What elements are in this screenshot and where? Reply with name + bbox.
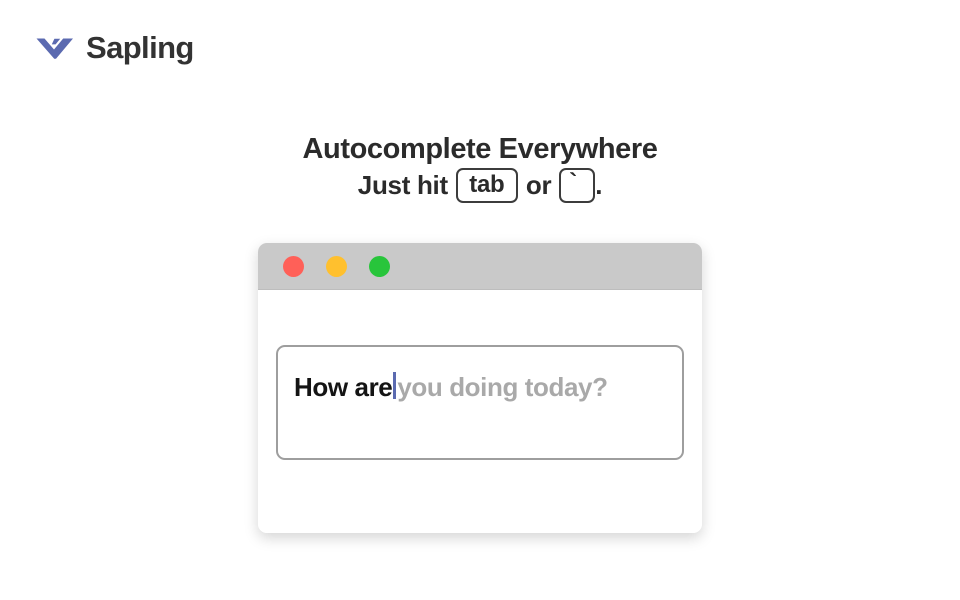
headline-suffix-text: . [595,168,602,203]
keycap-backtick: ` [559,168,595,203]
headline-conjunction-text: or [526,168,551,203]
brand-logo[interactable]: Sapling [33,25,194,69]
keycap-tab: tab [456,168,518,203]
editor-text-line: How are you doing today? [294,369,666,403]
sapling-leaf-chevron-logo-icon [33,25,77,69]
headline-subtitle: Just hit tab or ` . [0,168,960,203]
autocomplete-suggestion-text: you doing today? [397,372,607,403]
window-titlebar[interactable] [258,243,702,290]
page-root: Sapling Autocomplete Everywhere Just hit… [0,0,960,600]
traffic-light-close-icon[interactable] [283,256,304,277]
backtick-glyph: ` [569,171,577,195]
headline-block: Autocomplete Everywhere Just hit tab or … [0,131,960,203]
text-caret [393,372,396,399]
autocomplete-text-input[interactable]: How are you doing today? [276,345,684,460]
traffic-light-minimize-icon[interactable] [326,256,347,277]
traffic-light-maximize-icon[interactable] [369,256,390,277]
browser-window-mock: How are you doing today? [258,243,702,533]
headline-prefix-text: Just hit [358,168,448,203]
typed-text: How are [294,372,392,403]
brand-name: Sapling [86,32,194,63]
page-title: Autocomplete Everywhere [0,131,960,168]
window-body: How are you doing today? [258,290,702,533]
